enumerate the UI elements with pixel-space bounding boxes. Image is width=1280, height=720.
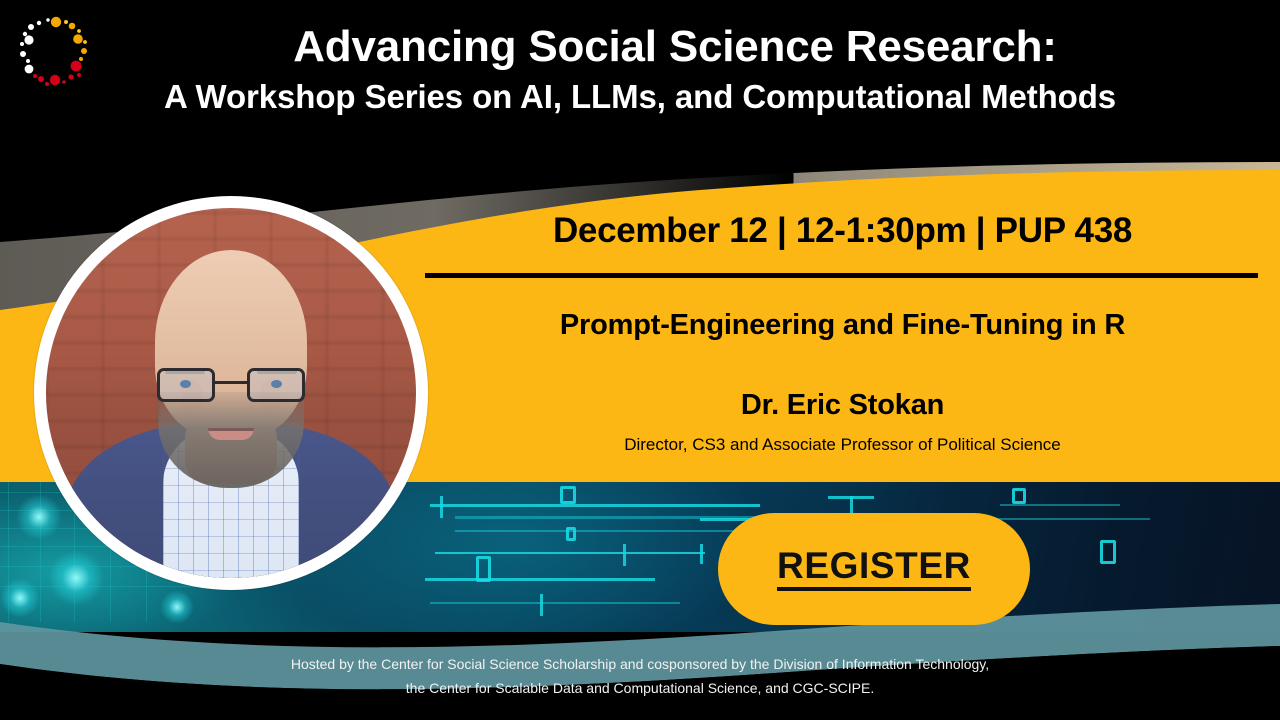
workshop-topic: Prompt-Engineering and Fine-Tuning in R (425, 309, 1260, 342)
poster-headline: Advancing Social Science Research: A Wor… (0, 22, 1280, 116)
poster-footer: Hosted by the Center for Social Science … (0, 652, 1280, 700)
headline-line-1: Advancing Social Science Research: (0, 22, 1280, 71)
headline-line-2: A Workshop Series on AI, LLMs, and Compu… (0, 78, 1280, 116)
eyeglasses-icon (155, 368, 307, 402)
speaker-portrait (34, 196, 428, 590)
event-poster: Advancing Social Science Research: A Wor… (0, 0, 1280, 720)
divider-line (425, 273, 1258, 278)
speaker-role: Director, CS3 and Associate Professor of… (425, 435, 1260, 455)
portrait-image (46, 208, 416, 578)
speaker-name: Dr. Eric Stokan (425, 389, 1260, 422)
head (155, 250, 307, 440)
event-datetime-location: December 12 | 12-1:30pm | PUP 438 (425, 212, 1260, 251)
footer-line-2: the Center for Scalable Data and Computa… (0, 676, 1280, 700)
register-button[interactable]: REGISTER (718, 513, 1030, 625)
register-button-label: REGISTER (777, 547, 971, 592)
footer-line-1: Hosted by the Center for Social Science … (0, 652, 1280, 676)
mouth (208, 428, 254, 440)
event-details: December 12 | 12-1:30pm | PUP 438 Prompt… (425, 212, 1260, 455)
